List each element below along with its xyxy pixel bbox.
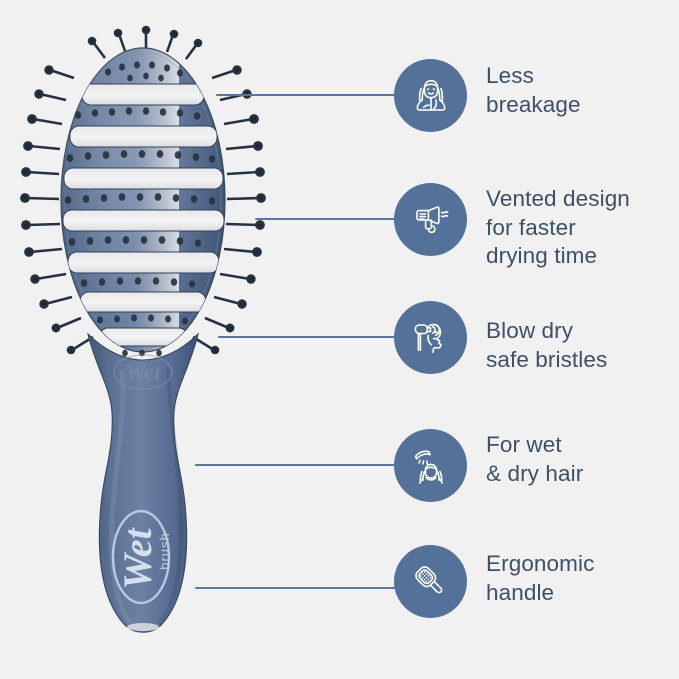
hair-dryer-icon: [409, 198, 453, 242]
product-image-hair-brush: Wet Wet brush: [0, 0, 270, 679]
icon-badge-blow-dry-safe-bristles[interactable]: [394, 301, 467, 374]
feature-label-less-breakage: Less breakage: [486, 62, 581, 119]
connector-line-ergonomic-handle: [195, 587, 397, 589]
hair-brush-icon: [409, 560, 453, 604]
icon-badge-ergonomic-handle[interactable]: [394, 545, 467, 618]
woman-holding-hair-strand-icon: [409, 74, 453, 118]
feature-label-blow-dry-safe-bristles: Blow dry safe bristles: [486, 317, 607, 374]
handle-logo-subtext: brush: [157, 532, 172, 570]
connector-line-less-breakage: [216, 94, 397, 96]
feature-label-vented-design: Vented design for faster drying time: [486, 185, 630, 271]
connector-line-blow-dry-safe-bristles: [218, 336, 397, 338]
shower-head-over-woman-icon: [409, 444, 453, 488]
hair-brush-illustration: Wet Wet brush: [0, 0, 270, 679]
icon-badge-wet-and-dry-hair[interactable]: [394, 429, 467, 502]
icon-badge-vented-design[interactable]: [394, 183, 467, 256]
blow-dryer-and-face-icon: [409, 316, 453, 360]
handle-logo-text: Wet: [115, 526, 160, 589]
feature-label-wet-and-dry-hair: For wet & dry hair: [486, 431, 583, 488]
infographic-canvas: Wet Wet brush: [0, 0, 679, 679]
icon-badge-less-breakage[interactable]: [394, 59, 467, 132]
head-emboss-text: Wet: [125, 360, 161, 385]
connector-line-wet-and-dry-hair: [195, 464, 397, 466]
connector-line-vented-design: [255, 218, 397, 220]
feature-label-ergonomic-handle: Ergonomic handle: [486, 550, 594, 607]
